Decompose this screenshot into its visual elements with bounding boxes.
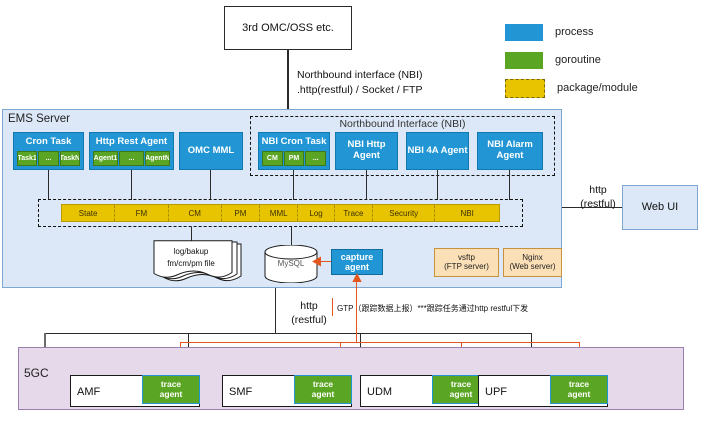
process-nbi-http-agent-title: NBI Http Agent — [336, 140, 397, 161]
connector-nbi-4a-agent-to-modules — [437, 170, 438, 200]
bus-horizontal-black — [44, 333, 532, 334]
goroutine-cell: ... — [38, 151, 58, 166]
connector-nbi-cron-task-to-modules — [293, 170, 294, 200]
process-nbi-4a-agent[interactable]: NBI 4A Agent — [406, 132, 469, 170]
goroutine-cell: TaskN — [60, 151, 80, 166]
trace-agent-line2: agent — [160, 390, 183, 400]
goroutine-strip-nbi-cron-task: CM PM ... — [262, 151, 326, 166]
goroutine-cell: ... — [305, 151, 326, 166]
nbi-group-title: Northbound Interface (NBI) — [250, 118, 555, 130]
nginx-server-box: Nginx (Web server) — [503, 248, 562, 277]
vsftp-server-box: vsftp (FTP server) — [434, 248, 499, 277]
module-pm[interactable]: PM — [222, 205, 260, 221]
goroutine-strip-cron-task: Task1 ... TaskN — [17, 151, 80, 166]
nf-amf[interactable]: AMF trace agent — [70, 375, 200, 407]
module-bar: State FM CM PM MML Log Trace Security NB… — [61, 204, 500, 222]
vsftp-line2: (FTP server) — [444, 263, 489, 272]
gc-http-label: http (restful) — [287, 299, 331, 327]
legend-label-module: package/module — [557, 82, 638, 94]
nginx-line2: (Web server) — [509, 263, 555, 272]
trace-agent-smf[interactable]: trace agent — [294, 375, 352, 404]
gtp-note-divider — [332, 298, 333, 316]
legend-swatch-process — [505, 24, 543, 41]
module-fm[interactable]: FM — [115, 205, 168, 221]
connector-cron-task-to-modules — [48, 170, 49, 200]
goroutine-cell: PM — [284, 151, 305, 166]
nf-udm[interactable]: UDM trace agent — [360, 375, 490, 407]
third-party-omc-oss-box: 3rd OMC/OSS etc. — [224, 6, 352, 50]
legend-item-goroutine: goroutine — [505, 46, 701, 74]
nf-smf-label: SMF — [229, 386, 252, 398]
file-stack-line2: fm/cm/pm file — [151, 258, 231, 270]
process-nbi-alarm-agent-title: NBI Alarm Agent — [478, 140, 542, 161]
web-ui-label: Web UI — [642, 201, 678, 213]
gc-http-line2: (restful) — [287, 313, 331, 327]
ems-server-title: EMS Server — [8, 113, 70, 125]
nf-upf[interactable]: UPF trace agent — [478, 375, 608, 407]
process-http-rest-agent[interactable]: Http Rest Agent Agent1 ... AgentN — [89, 132, 174, 170]
process-nbi-cron-task-title: NBI Cron Task — [259, 137, 329, 148]
capture-agent-line1: capture — [341, 252, 374, 262]
third-party-label: 3rd OMC/OSS etc. — [242, 22, 334, 34]
nf-udm-label: UDM — [367, 386, 392, 398]
trace-agent-upf[interactable]: trace agent — [550, 375, 608, 404]
arrow-capture-to-mysql-head — [312, 256, 321, 267]
connector-modules-to-files — [191, 227, 192, 241]
connector-http-rest-agent-to-modules — [131, 170, 132, 200]
nf-amf-label: AMF — [77, 386, 100, 398]
process-cron-task-title: Cron Task — [14, 137, 83, 148]
trace-agent-line2: agent — [450, 390, 473, 400]
gc-http-line1: http — [287, 299, 331, 313]
gtp-note: GTP（跟踪数据上报）***跟踪任务通过http restful下发 — [337, 303, 528, 314]
bus-drop-from-ems — [275, 288, 276, 334]
file-stack-line1: log/bakup — [151, 246, 231, 258]
module-log[interactable]: Log — [298, 205, 334, 221]
log-backup-file-stack: log/bakup fm/cm/pm file — [151, 240, 243, 284]
process-nbi-cron-task[interactable]: NBI Cron Task CM PM ... — [258, 132, 330, 170]
5gc-title: 5GC — [24, 366, 49, 380]
goroutine-cell: Task1 — [17, 151, 37, 166]
legend: process goroutine package/module — [505, 18, 701, 102]
connector-omc-to-ems — [287, 50, 289, 116]
process-http-rest-agent-title: Http Rest Agent — [90, 137, 173, 148]
nf-smf[interactable]: SMF trace agent — [222, 375, 352, 407]
trace-agent-line2: agent — [568, 390, 591, 400]
nf-upf-label: UPF — [485, 386, 507, 398]
mysql-database: MySQL — [263, 245, 319, 283]
connector-omc-mml-to-modules — [210, 170, 211, 200]
connector-modules-to-mysql — [291, 227, 292, 245]
nbi-link-line1: Northbound interface (NBI) — [297, 68, 422, 83]
connector-nbi-alarm-agent-to-modules — [509, 170, 510, 200]
file-stack-label: log/bakup fm/cm/pm file — [151, 246, 231, 270]
process-nbi-alarm-agent[interactable]: NBI Alarm Agent — [477, 132, 543, 170]
module-state[interactable]: State — [62, 205, 115, 221]
capture-agent-line2: agent — [341, 262, 374, 272]
trace-agent-line2: agent — [312, 390, 335, 400]
arrow-trace-into-capture-agent — [352, 273, 362, 283]
connector-nbi-http-agent-to-modules — [366, 170, 367, 200]
legend-label-process: process — [555, 26, 594, 38]
goroutine-cell: Agent1 — [93, 151, 118, 166]
web-ui-http-line1: http — [577, 183, 619, 197]
mysql-label: MySQL — [263, 259, 319, 268]
process-omc-mml-title: OMC MML — [188, 146, 234, 157]
module-security[interactable]: Security — [373, 205, 435, 221]
process-capture-agent[interactable]: capture agent — [331, 249, 383, 275]
module-mml[interactable]: MML — [260, 205, 298, 221]
goroutine-cell: ... — [119, 151, 144, 166]
module-cm[interactable]: CM — [169, 205, 222, 221]
goroutine-strip-http-rest-agent: Agent1 ... AgentN — [93, 151, 170, 166]
legend-label-goroutine: goroutine — [555, 54, 601, 66]
trace-bus-horizontal — [180, 342, 580, 343]
nbi-link-line2: .http(restful) / Socket / FTP — [297, 83, 422, 98]
module-trace[interactable]: Trace — [335, 205, 373, 221]
nbi-link-label: Northbound interface (NBI) .http(restful… — [297, 68, 422, 98]
legend-item-process: process — [505, 18, 701, 46]
trace-agent-amf[interactable]: trace agent — [142, 375, 200, 404]
web-ui-http-line2: (restful) — [577, 197, 619, 211]
process-omc-mml[interactable]: OMC MML — [179, 132, 243, 170]
process-nbi-http-agent[interactable]: NBI Http Agent — [335, 132, 398, 170]
legend-swatch-goroutine — [505, 52, 543, 69]
legend-item-module: package/module — [505, 74, 701, 102]
web-ui-box: Web UI — [622, 185, 698, 230]
web-ui-http-label: http (restful) — [577, 183, 619, 211]
module-nbi[interactable]: NBI — [435, 205, 499, 221]
legend-swatch-module — [505, 79, 545, 98]
process-nbi-4a-agent-title: NBI 4A Agent — [408, 146, 468, 157]
goroutine-cell: CM — [262, 151, 283, 166]
process-cron-task[interactable]: Cron Task Task1 ... TaskN — [13, 132, 84, 170]
goroutine-cell: AgentN — [145, 151, 170, 166]
